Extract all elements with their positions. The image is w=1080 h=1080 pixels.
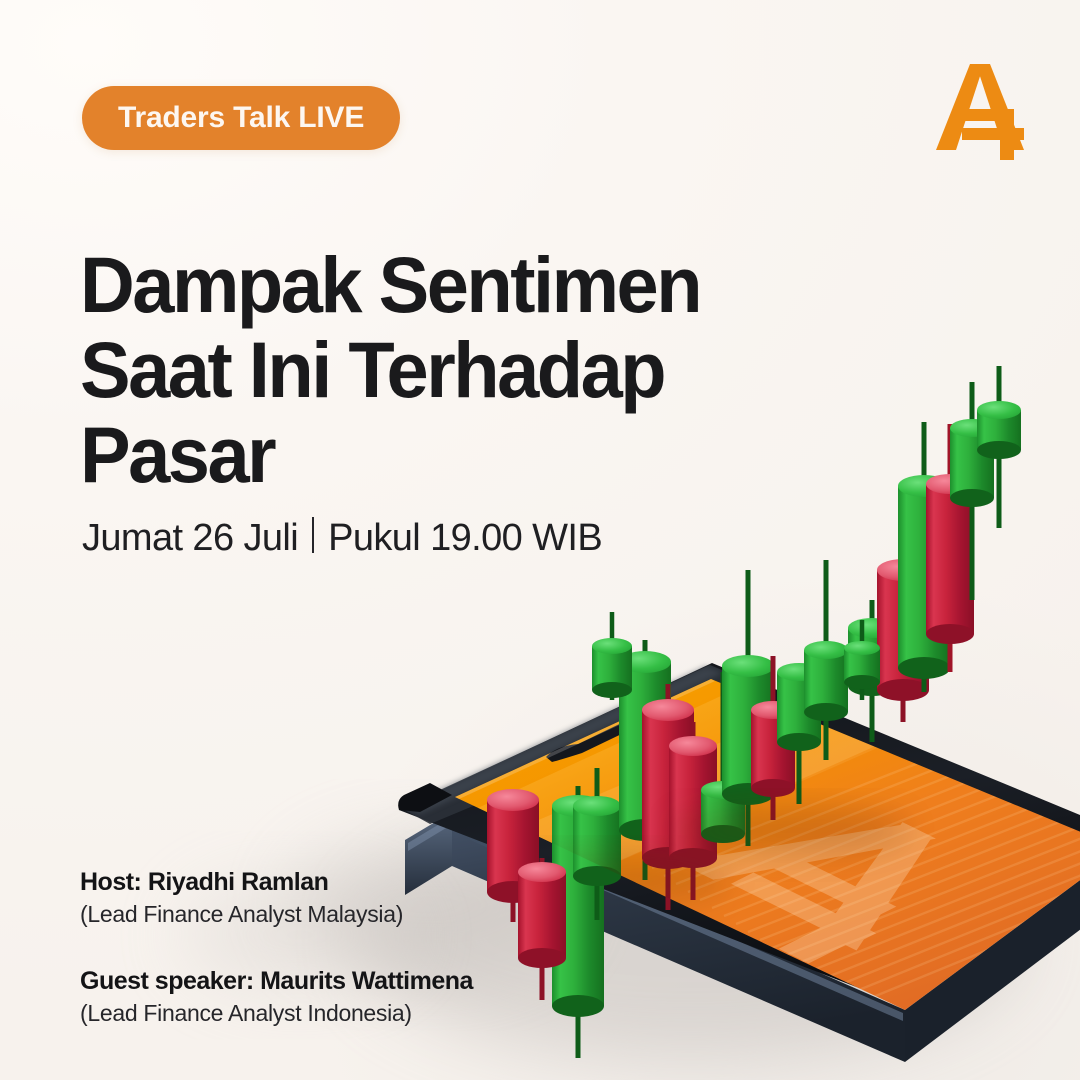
- event-datetime: Jumat 26 Juli Pukul 19.00 WIB: [82, 514, 602, 560]
- host-credit: Host: Riyadhi Ramlan (Lead Finance Analy…: [80, 866, 473, 931]
- octa-a-logo-icon: [930, 58, 1030, 160]
- headline-line-1: Dampak Sentimen: [80, 243, 790, 328]
- guest-name: Guest speaker: Maurits Wattimena: [80, 965, 473, 997]
- headline-line-2: Saat Ini Terhadap: [80, 328, 790, 413]
- live-badge-label: Traders Talk LIVE: [118, 101, 364, 135]
- host-role: (Lead Finance Analyst Malaysia): [80, 898, 473, 931]
- headline-line-3: Pasar: [80, 413, 790, 498]
- page-title: Dampak Sentimen Saat Ini Terhadap Pasar: [80, 243, 790, 498]
- poster-canvas: Traders Talk LIVE Dampak Sentimen Saat I…: [0, 0, 1080, 1080]
- event-date: Jumat 26 Juli: [82, 517, 298, 560]
- speakers-block: Host: Riyadhi Ramlan (Lead Finance Analy…: [80, 866, 473, 1031]
- datetime-separator: [312, 517, 314, 553]
- guest-role: (Lead Finance Analyst Indonesia): [80, 997, 473, 1030]
- host-name: Host: Riyadhi Ramlan: [80, 866, 473, 898]
- live-badge[interactable]: Traders Talk LIVE: [82, 86, 400, 150]
- guest-credit: Guest speaker: Maurits Wattimena (Lead F…: [80, 965, 473, 1030]
- event-time: Pukul 19.00 WIB: [328, 517, 602, 560]
